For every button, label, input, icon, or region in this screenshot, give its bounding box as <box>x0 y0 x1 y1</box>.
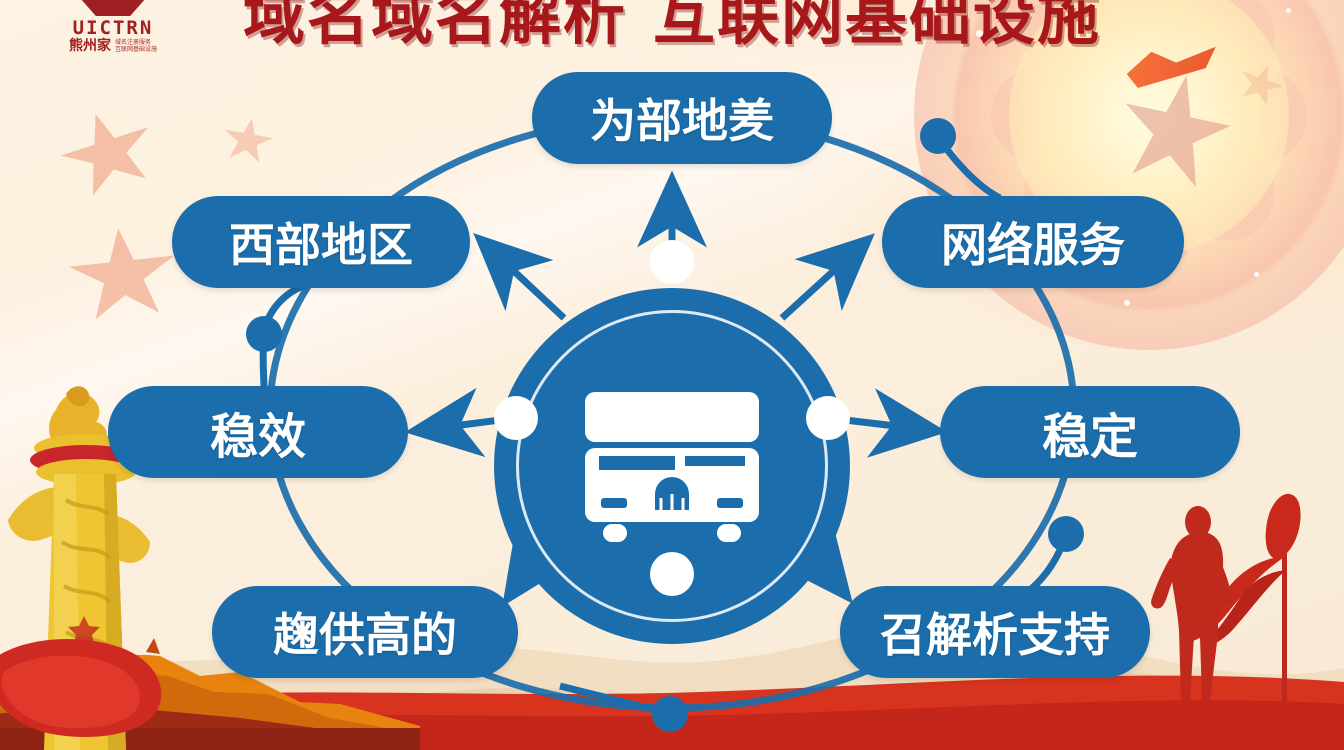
diagram-node-upper-left[interactable]: 西部地区 <box>172 196 470 288</box>
hub-anchor-dot <box>494 396 538 440</box>
connector-dot <box>652 696 688 732</box>
diagram-node-upper-right[interactable]: 网络服务 <box>882 196 1184 288</box>
server-rack-icon <box>577 386 767 546</box>
diagram-node-left[interactable]: 稳效 <box>108 386 408 478</box>
diagram-node-lower-right[interactable]: 召解析支持 <box>840 586 1150 678</box>
node-label: 趜供高的 <box>273 599 457 665</box>
poster-canvas: UICTRN 熊州家 域名注册服务 互联网基础设施 域名域名解析互联网基础设施 <box>0 0 1344 750</box>
diagram-node-lower-left[interactable]: 趜供高的 <box>212 586 518 678</box>
node-label: 为部地羑 <box>590 85 774 151</box>
radial-diagram: 为部地羑 西部地区 网络服务 稳效 稳定 趜供高的 召解析支持 <box>0 0 1344 750</box>
node-label: 西部地区 <box>229 209 413 275</box>
connector-dot <box>246 316 282 352</box>
node-label: 稳效 <box>210 397 306 467</box>
node-label: 网络服务 <box>941 209 1125 275</box>
hub-anchor-dot <box>650 552 694 596</box>
connector-dot <box>1048 516 1084 552</box>
hub-anchor-dot <box>806 396 850 440</box>
hub-anchor-dot <box>650 240 694 284</box>
connector-dot <box>920 118 956 154</box>
node-label: 稳定 <box>1042 397 1138 467</box>
diagram-node-right[interactable]: 稳定 <box>940 386 1240 478</box>
diagram-node-top[interactable]: 为部地羑 <box>532 72 832 164</box>
node-label: 召解析支持 <box>880 599 1110 665</box>
